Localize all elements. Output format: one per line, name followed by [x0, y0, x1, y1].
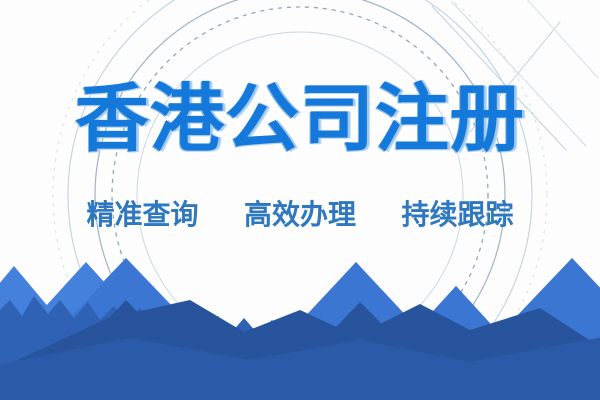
feature-item-3: 持续跟踪: [402, 197, 514, 233]
page-title: 香港公司注册: [0, 78, 600, 160]
promo-banner: 香港公司注册 精准查询 高效办理 持续跟踪: [0, 0, 600, 400]
subtitle-feature-list: 精准查询 高效办理 持续跟踪: [0, 197, 600, 233]
feature-item-2: 高效办理: [244, 197, 356, 233]
feature-item-1: 精准查询: [86, 197, 198, 233]
